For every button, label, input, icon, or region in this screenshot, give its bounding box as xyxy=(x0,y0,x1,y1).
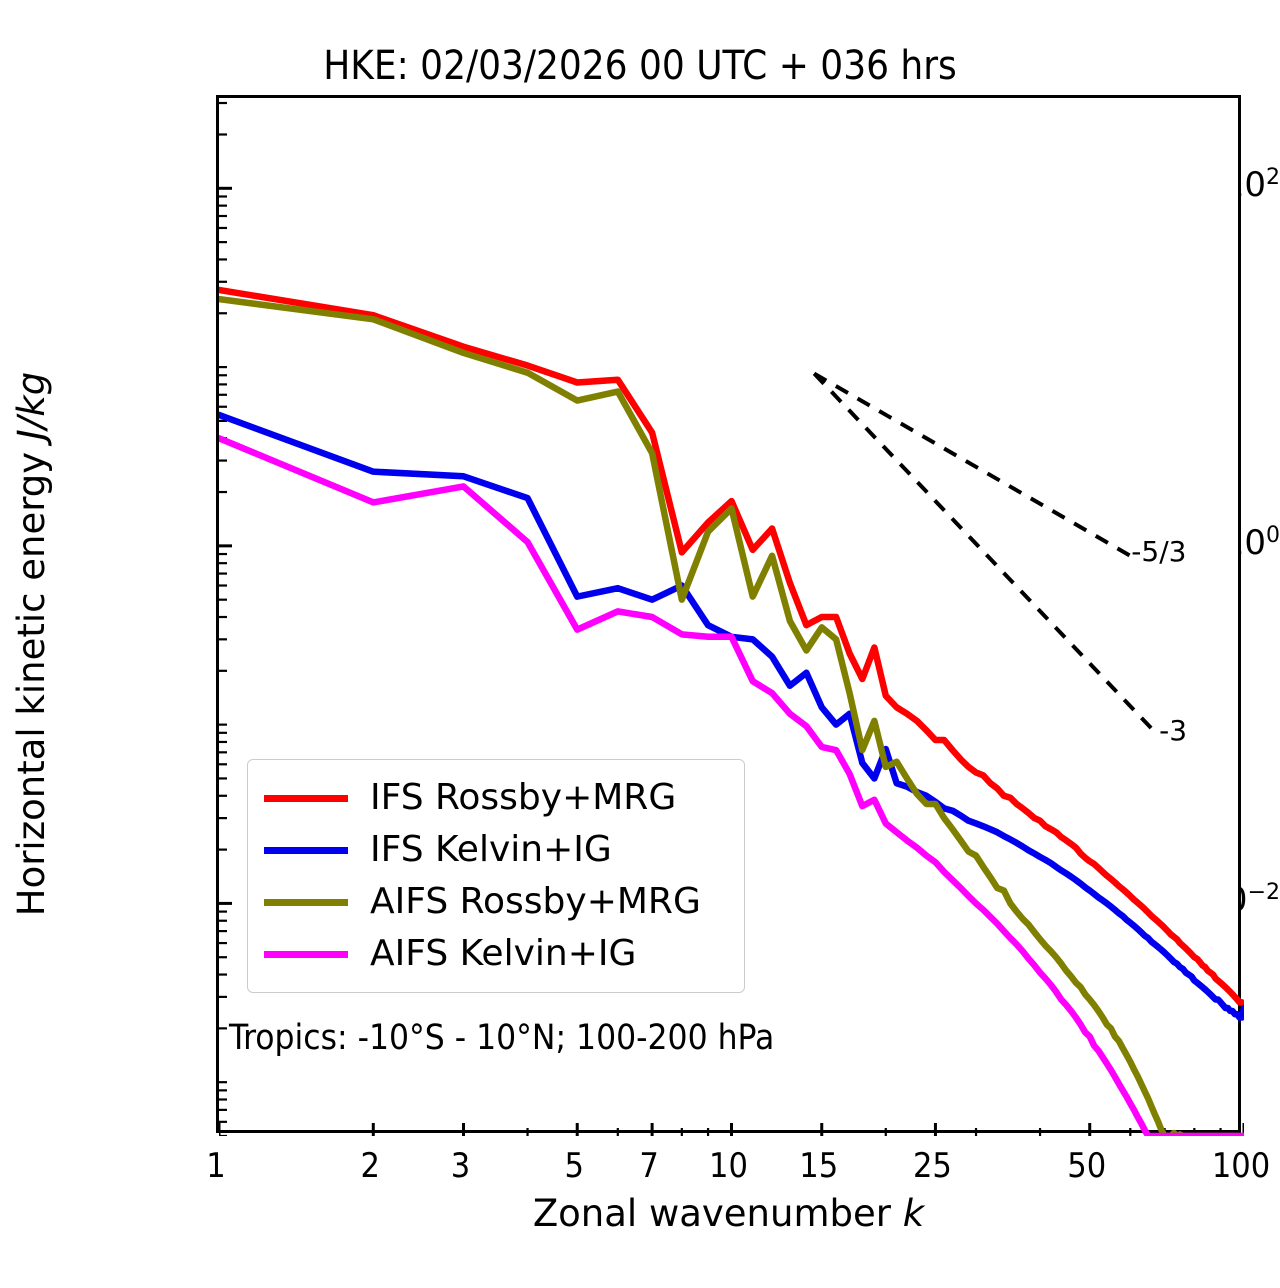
legend-swatch-icon xyxy=(264,795,348,802)
x-tick-label-6: 15 xyxy=(799,1146,838,1186)
legend-item-0[interactable]: IFS Rossby+MRG xyxy=(248,772,744,824)
x-tick-label-7: 25 xyxy=(913,1146,952,1186)
reference-slope-line-0 xyxy=(814,374,1130,556)
y-tick-exponent: −2 xyxy=(1248,880,1280,905)
y-axis-unit: J/kg xyxy=(10,372,53,440)
legend-label: IFS Rossby+MRG xyxy=(370,780,676,816)
legend-swatch-icon xyxy=(264,951,348,958)
x-tick-label-5: 10 xyxy=(709,1146,748,1186)
x-tick-label-9: 100 xyxy=(1212,1146,1270,1186)
reference-slope-line-1 xyxy=(814,374,1158,736)
page-title: HKE: 02/03/2026 00 UTC + 036 hrs xyxy=(0,42,1280,90)
region-annotation: Tropics: -10°S - 10°N; 100-200 hPa xyxy=(229,1018,774,1058)
x-tick-label-2: 3 xyxy=(451,1146,470,1186)
x-tick-label-3: 5 xyxy=(564,1146,583,1186)
y-tick-exponent: 0 xyxy=(1266,523,1280,548)
slope-label-five-thirds: -5/3 xyxy=(1131,535,1186,568)
legend: IFS Rossby+MRGIFS Kelvin+IGAIFS Rossby+M… xyxy=(247,759,745,993)
legend-swatch-icon xyxy=(264,899,348,906)
y-axis-label: Horizontal kinetic energy J/kg xyxy=(0,0,62,1288)
legend-swatch-icon xyxy=(264,847,348,854)
series-line-2 xyxy=(219,299,1244,1136)
y-tick-exponent: 2 xyxy=(1266,165,1280,190)
x-tick-label-4: 7 xyxy=(639,1146,658,1186)
legend-label: AIFS Rossby+MRG xyxy=(370,884,701,920)
x-tick-label-0: 1 xyxy=(206,1146,225,1186)
x-tick-label-8: 50 xyxy=(1067,1146,1106,1186)
y-axis-label-text: Horizontal kinetic energy xyxy=(10,440,53,916)
legend-label: AIFS Kelvin+IG xyxy=(370,936,636,972)
legend-item-2[interactable]: AIFS Rossby+MRG xyxy=(248,876,744,928)
legend-label: IFS Kelvin+IG xyxy=(370,832,612,868)
x-axis-label-text: Zonal wavenumber xyxy=(533,1192,903,1235)
slope-label-three: -3 xyxy=(1159,714,1187,747)
legend-item-3[interactable]: AIFS Kelvin+IG xyxy=(248,928,744,980)
legend-item-1[interactable]: IFS Kelvin+IG xyxy=(248,824,744,876)
x-axis-label: Zonal wavenumber k xyxy=(216,1192,1241,1235)
x-axis-variable: k xyxy=(903,1192,924,1235)
x-tick-label-1: 2 xyxy=(361,1146,380,1186)
chart-root: HKE: 02/03/2026 00 UTC + 036 hrs Horizon… xyxy=(0,0,1280,1288)
